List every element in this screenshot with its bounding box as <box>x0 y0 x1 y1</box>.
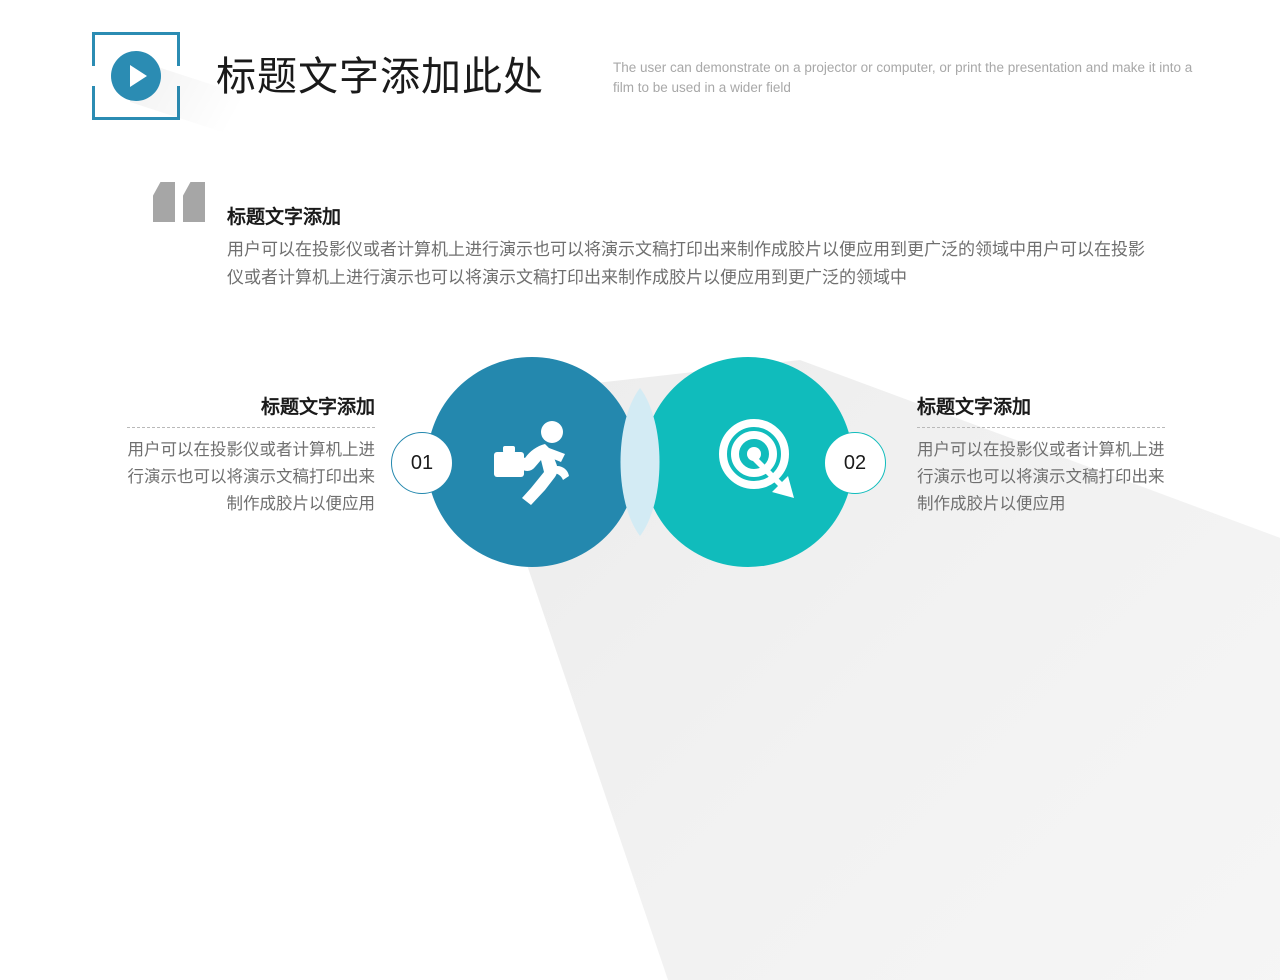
overlap-lens <box>604 388 676 536</box>
column-divider-02 <box>917 427 1165 428</box>
running-businessman-icon <box>489 420 579 506</box>
badge-number-02[interactable]: 02 <box>824 432 886 494</box>
play-triangle-glyph <box>130 65 147 87</box>
column-title-01: 标题文字添加 <box>127 396 375 420</box>
text-column-02: 标题文字添加 用户可以在投影仪或者计算机上进行演示也可以将演示文稿打印出来制作成… <box>917 396 1165 518</box>
column-title-02: 标题文字添加 <box>917 396 1165 420</box>
column-body-02: 用户可以在投影仪或者计算机上进行演示也可以将演示文稿打印出来制作成胶片以便应用 <box>917 437 1165 518</box>
column-divider-01 <box>127 427 375 428</box>
badge-number-01[interactable]: 01 <box>391 432 453 494</box>
text-column-01: 标题文字添加 用户可以在投影仪或者计算机上进行演示也可以将演示文稿打印出来制作成… <box>127 396 375 518</box>
target-arrow-icon <box>714 418 802 506</box>
play-button-icon[interactable] <box>111 51 161 101</box>
column-body-01: 用户可以在投影仪或者计算机上进行演示也可以将演示文稿打印出来制作成胶片以便应用 <box>127 437 375 518</box>
